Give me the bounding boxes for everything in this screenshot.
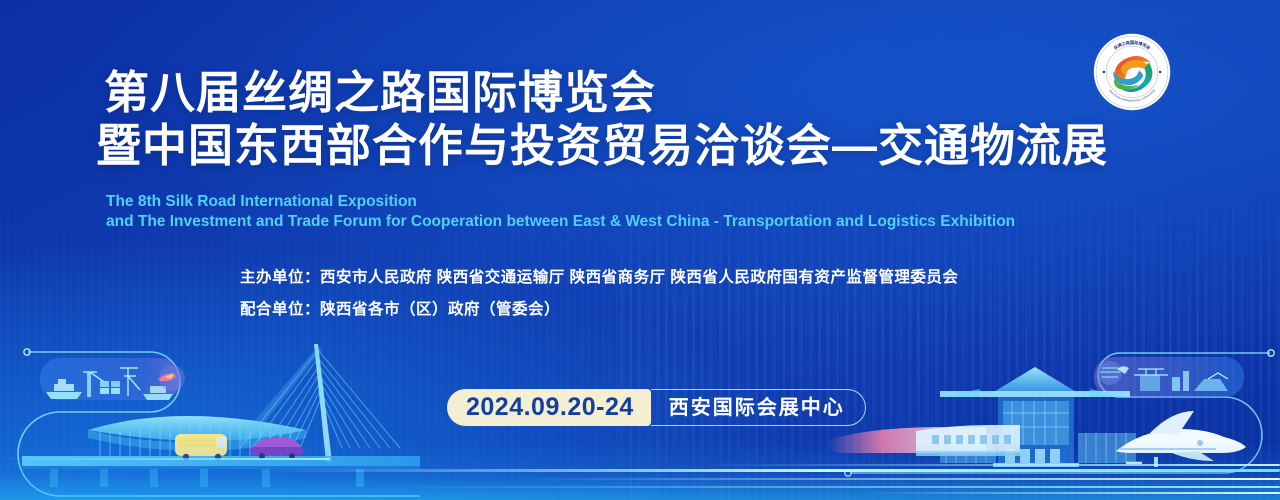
- date-venue-bar: 2024.09.20-24 西安国际会展中心: [447, 389, 866, 426]
- title-line-1: 第八届丝绸之路国际博览会: [104, 66, 1224, 119]
- expo-banner: 丝绸之路国际博览会 SILK ROAD INTERNATIONAL EXPOSI…: [0, 0, 1280, 500]
- organizer-line-cohost: 配合单位：陕西省各市（区）政府（管委会）: [240, 294, 958, 326]
- train-station-airplane-illustration: [820, 345, 1280, 500]
- port-bridge-city-illustration: [0, 330, 420, 500]
- high-speed-train: [826, 425, 1024, 456]
- event-date: 2024.09.20-24: [447, 389, 651, 426]
- title-block: 第八届丝绸之路国际博览会 暨中国东西部合作与投资贸易洽谈会—交通物流展: [104, 66, 1224, 172]
- event-venue: 西安国际会展中心: [651, 389, 866, 426]
- english-line-1: The 8th Silk Road International Expositi…: [106, 192, 1266, 212]
- organizer-line-host: 主办单位：西安市人民政府 陕西省交通运输厅 陕西省商务厅 陕西省人民政府国有资产…: [240, 262, 958, 294]
- title-line-2: 暨中国东西部合作与投资贸易洽谈会—交通物流展: [96, 119, 1224, 172]
- english-line-2: and The Investment and Trade Forum for C…: [106, 212, 1266, 232]
- organizer-block: 主办单位：西安市人民政府 陕西省交通运输厅 陕西省商务厅 陕西省人民政府国有资产…: [240, 262, 958, 326]
- english-subtitle-block: The 8th Silk Road International Expositi…: [106, 192, 1266, 231]
